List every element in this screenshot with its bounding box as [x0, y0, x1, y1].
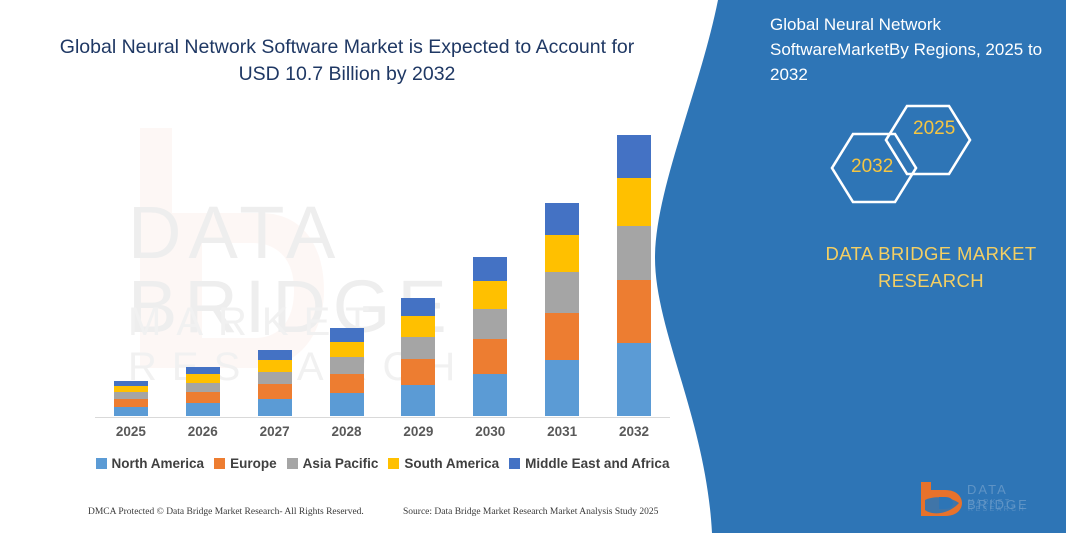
legend-swatch-icon — [214, 458, 225, 469]
bar-segment-asia-pacific[interactable] — [617, 226, 651, 280]
chart-x-axis-labels: 20252026202720282029203020312032 — [95, 424, 670, 444]
bar-segment-middle-east-and-africa[interactable] — [401, 298, 435, 316]
footer-source: Source: Data Bridge Market Research Mark… — [403, 507, 658, 517]
legend-swatch-icon — [287, 458, 298, 469]
bar-column-2026[interactable] — [186, 367, 220, 416]
bar-segment-europe[interactable] — [545, 313, 579, 361]
footer-copyright: DMCA Protected © Data Bridge Market Rese… — [88, 507, 364, 517]
bar-column-2031[interactable] — [545, 203, 579, 416]
bar-segment-europe[interactable] — [330, 374, 364, 394]
year-range-hexagons: 2032 2025 — [815, 96, 995, 211]
legend-item-middle-east-and-africa[interactable]: Middle East and Africa — [509, 456, 669, 471]
bar-segment-europe[interactable] — [401, 359, 435, 385]
chart-plot-area — [95, 120, 670, 417]
legend-item-north-america[interactable]: North America — [96, 456, 205, 471]
bar-segment-middle-east-and-africa[interactable] — [258, 350, 292, 360]
bar-column-2030[interactable] — [473, 257, 507, 416]
bar-segment-north-america[interactable] — [186, 403, 220, 416]
bar-segment-europe[interactable] — [473, 339, 507, 374]
bar-segment-asia-pacific[interactable] — [545, 272, 579, 313]
bar-segment-south-america[interactable] — [330, 342, 364, 357]
bar-segment-middle-east-and-africa[interactable] — [473, 257, 507, 281]
brand-line-1: DATA BRIDGE MARKET — [825, 243, 1036, 264]
panel-title: Global Neural Network SoftwareMarketBy R… — [770, 12, 1052, 87]
bar-segment-north-america[interactable] — [617, 343, 651, 416]
legend-item-asia-pacific[interactable]: Asia Pacific — [287, 456, 379, 471]
stacked-bar-chart — [95, 120, 670, 418]
hexagon-label-end: 2025 — [913, 118, 955, 140]
legend-swatch-icon — [96, 458, 107, 469]
legend-swatch-icon — [509, 458, 520, 469]
bar-segment-asia-pacific[interactable] — [114, 392, 148, 399]
x-axis-label-2029: 2029 — [388, 424, 448, 439]
bar-segment-south-america[interactable] — [258, 360, 292, 371]
bar-segment-asia-pacific[interactable] — [330, 357, 364, 374]
hexagon-label-start: 2032 — [851, 156, 893, 178]
x-axis-label-2032: 2032 — [604, 424, 664, 439]
brand-line-2: RESEARCH — [878, 270, 984, 291]
chart-axis-line — [95, 417, 670, 418]
bar-segment-south-america[interactable] — [545, 235, 579, 272]
bar-segment-europe[interactable] — [617, 280, 651, 343]
legend-label: North America — [112, 456, 205, 471]
bar-column-2032[interactable] — [617, 135, 651, 416]
bar-segment-middle-east-and-africa[interactable] — [186, 367, 220, 375]
bar-column-2028[interactable] — [330, 328, 364, 416]
x-axis-label-2031: 2031 — [532, 424, 592, 439]
bar-segment-south-america[interactable] — [186, 374, 220, 383]
page-title: Global Neural Network Software Market is… — [56, 34, 638, 88]
legend-label: South America — [404, 456, 499, 471]
bar-segment-north-america[interactable] — [258, 399, 292, 416]
legend-label: Asia Pacific — [303, 456, 379, 471]
bar-segment-north-america[interactable] — [473, 374, 507, 416]
bar-segment-north-america[interactable] — [545, 360, 579, 416]
chart-legend: North AmericaEuropeAsia PacificSouth Ame… — [95, 456, 670, 471]
bar-segment-middle-east-and-africa[interactable] — [330, 328, 364, 341]
legend-swatch-icon — [388, 458, 399, 469]
bar-segment-asia-pacific[interactable] — [186, 383, 220, 392]
x-axis-label-2027: 2027 — [245, 424, 305, 439]
bar-column-2027[interactable] — [258, 350, 292, 416]
bar-segment-south-america[interactable] — [401, 316, 435, 336]
bar-segment-asia-pacific[interactable] — [401, 337, 435, 360]
bar-segment-europe[interactable] — [114, 399, 148, 407]
x-axis-label-2025: 2025 — [101, 424, 161, 439]
bar-segment-south-america[interactable] — [617, 178, 651, 227]
bar-segment-middle-east-and-africa[interactable] — [545, 203, 579, 235]
legend-item-europe[interactable]: Europe — [214, 456, 277, 471]
bar-segment-middle-east-and-africa[interactable] — [617, 135, 651, 178]
logo-text-secondary: MARKET RESEARCH — [968, 499, 1060, 513]
data-bridge-logo: DATA BRIDGE MARKET RESEARCH — [915, 478, 1060, 522]
x-axis-label-2028: 2028 — [317, 424, 377, 439]
bar-segment-north-america[interactable] — [114, 407, 148, 416]
hexagon-shapes — [815, 96, 995, 211]
brand-name: DATA BRIDGE MARKET RESEARCH — [790, 240, 1066, 294]
legend-label: Middle East and Africa — [525, 456, 669, 471]
bar-column-2025[interactable] — [114, 381, 148, 416]
legend-label: Europe — [230, 456, 277, 471]
bar-column-2029[interactable] — [401, 298, 435, 416]
bar-segment-europe[interactable] — [258, 384, 292, 399]
bar-segment-asia-pacific[interactable] — [473, 309, 507, 340]
x-axis-label-2030: 2030 — [460, 424, 520, 439]
x-axis-label-2026: 2026 — [173, 424, 233, 439]
bar-segment-north-america[interactable] — [330, 393, 364, 416]
legend-item-south-america[interactable]: South America — [388, 456, 499, 471]
bar-segment-south-america[interactable] — [473, 281, 507, 308]
bar-segment-asia-pacific[interactable] — [258, 372, 292, 385]
bar-segment-europe[interactable] — [186, 392, 220, 403]
bar-segment-north-america[interactable] — [401, 385, 435, 416]
